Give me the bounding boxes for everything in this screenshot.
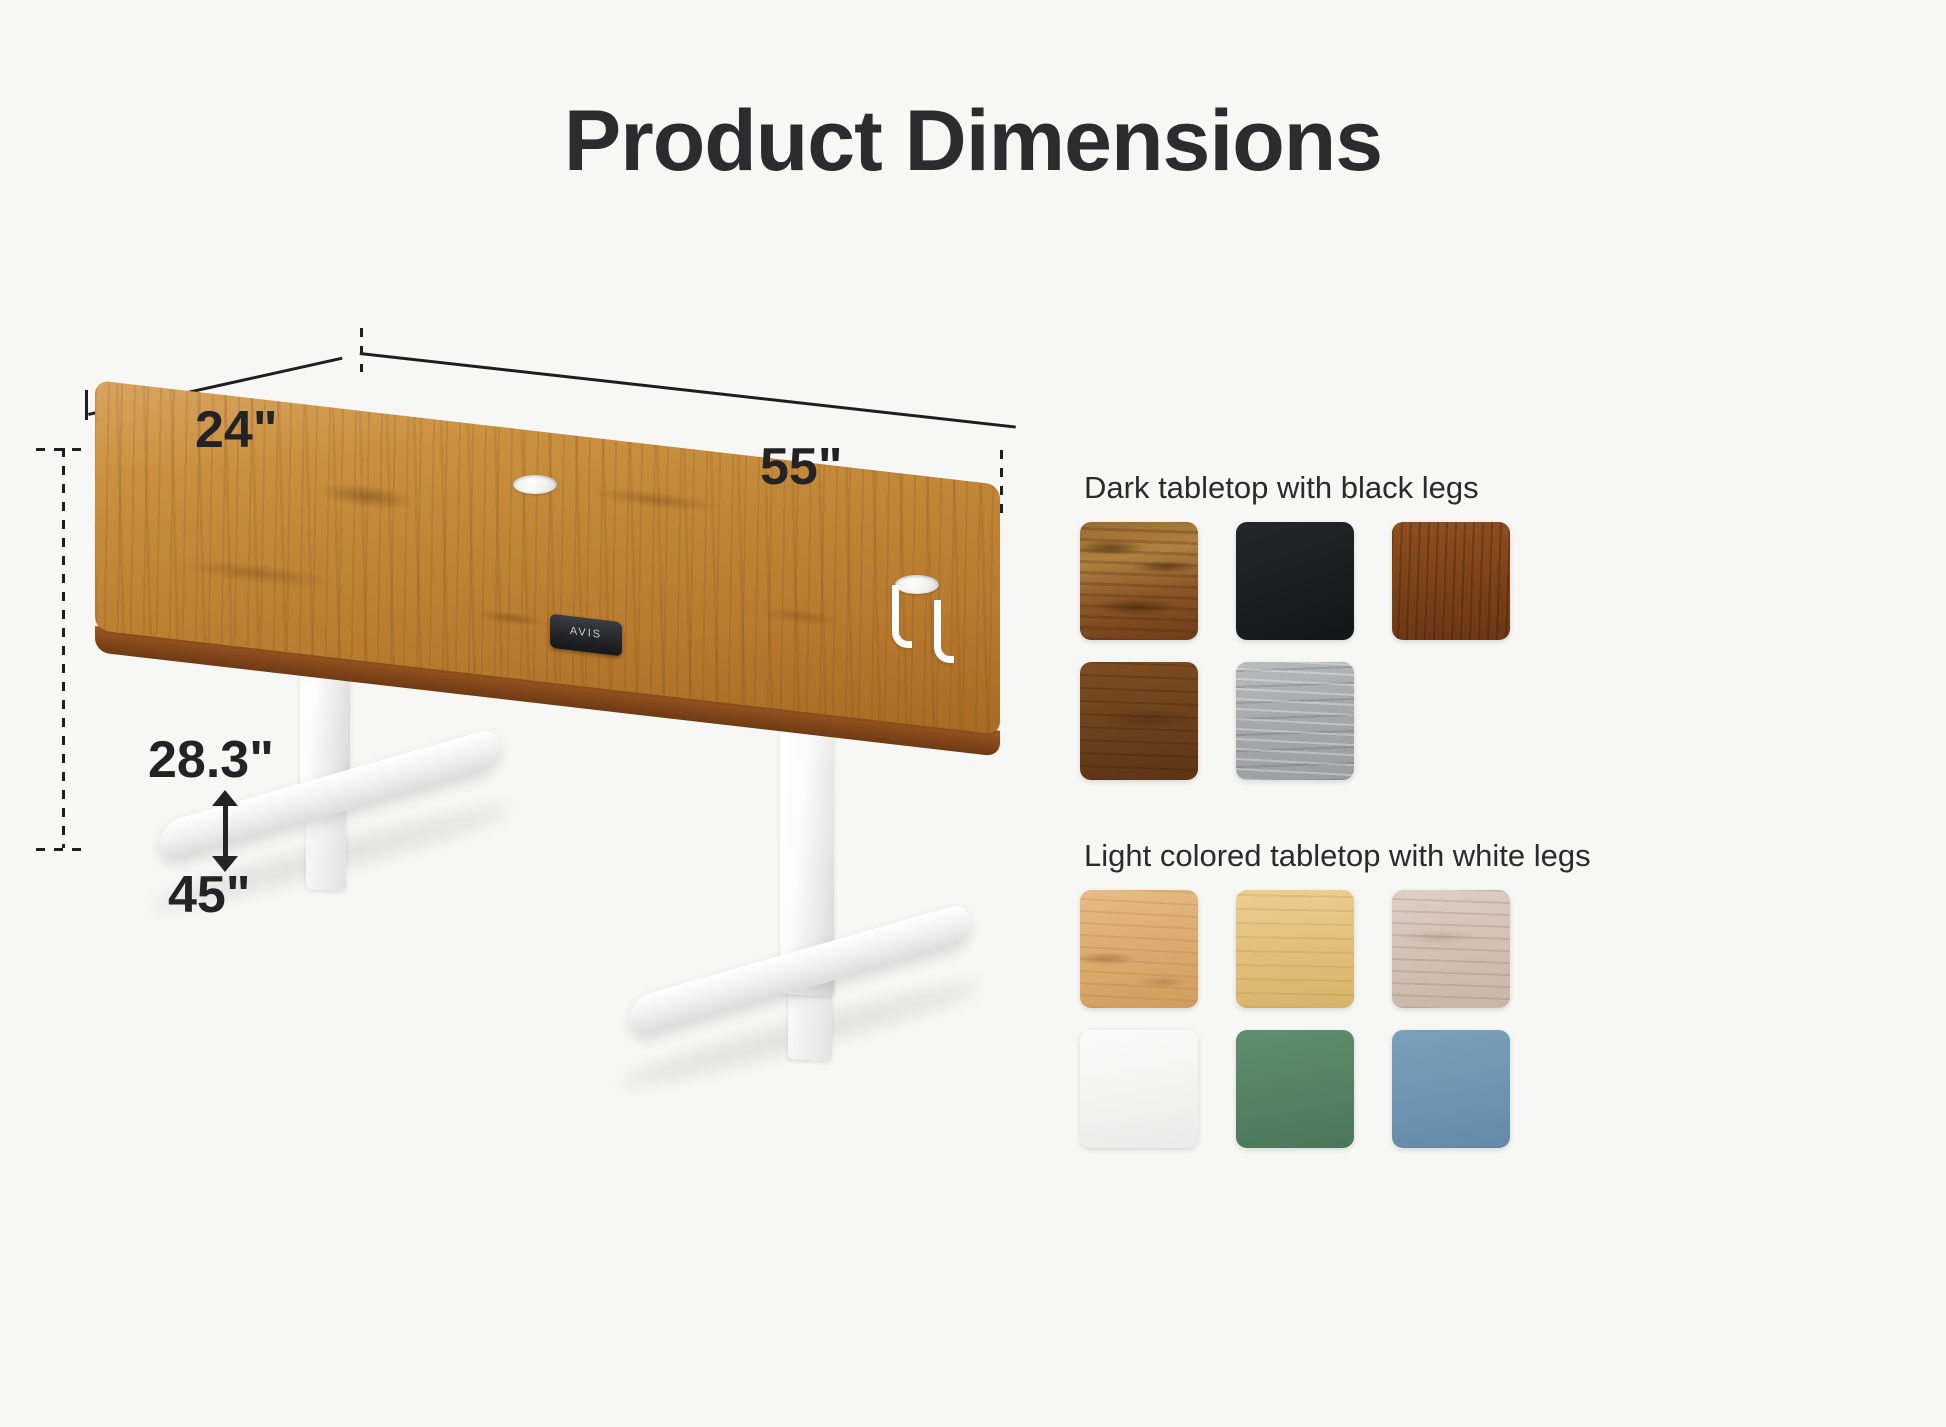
desk-illustration: AVIS 24" 55" 28.3" 45" [0, 300, 1120, 1380]
swatch-black[interactable] [1236, 522, 1354, 640]
swatch-mahogany[interactable] [1392, 522, 1510, 640]
control-panel-label: AVIS [550, 623, 622, 644]
arrow-stem [223, 800, 228, 862]
swatch-walnut[interactable] [1080, 662, 1198, 780]
swatch-gray-wood[interactable] [1236, 662, 1354, 780]
page-title: Product Dimensions [0, 92, 1946, 191]
light-swatch-grid [1080, 890, 1660, 1148]
light-group-heading: Light colored tabletop with white legs [1084, 838, 1900, 874]
arrow-down-icon [212, 856, 238, 872]
swatch-driftwood[interactable] [1392, 890, 1510, 1008]
height-max-dimension-label: 45" [168, 865, 251, 925]
width-dimension-label: 55" [760, 437, 843, 497]
dark-group-heading: Dark tabletop with black legs [1084, 470, 1900, 506]
height-range-arrow [212, 790, 238, 872]
swatch-blue[interactable] [1392, 1030, 1510, 1148]
depth-dimension-label: 24" [195, 400, 278, 460]
swatch-light-oak[interactable] [1080, 890, 1198, 1008]
height-min-dimension-label: 28.3" [148, 730, 274, 790]
swatch-bamboo[interactable] [1236, 890, 1354, 1008]
swatch-green[interactable] [1236, 1030, 1354, 1148]
cable-grommet-left [513, 475, 557, 494]
dark-swatch-grid [1080, 522, 1660, 780]
swatch-rustic-brown[interactable] [1080, 522, 1198, 640]
standing-desk: AVIS [0, 300, 1120, 1380]
color-options-panel: Dark tabletop with black legs Light colo… [1080, 470, 1900, 1148]
swatch-white[interactable] [1080, 1030, 1198, 1148]
headphone-hook-right [934, 600, 954, 663]
headphone-hook-left [892, 585, 912, 648]
